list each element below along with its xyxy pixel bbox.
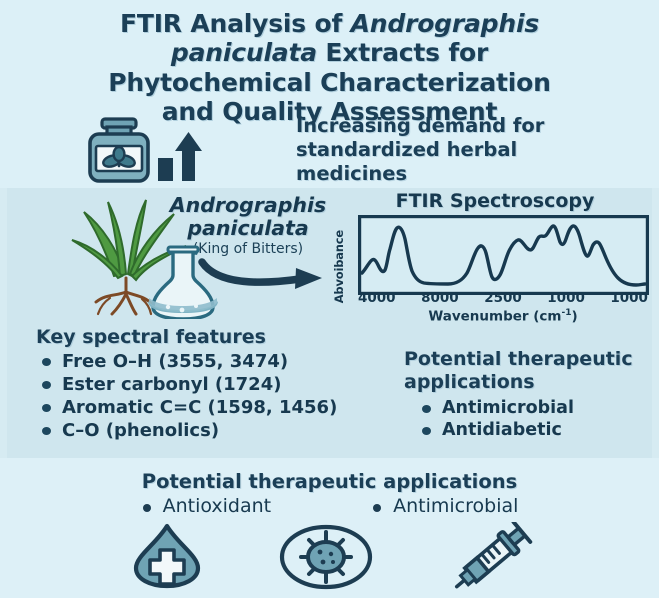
page-title: FTIR Analysis of Andrographis paniculata… xyxy=(28,9,631,126)
intro-text: Increasing demand for standardized herba… xyxy=(296,114,626,186)
title-line-2-plain: Extracts for xyxy=(317,38,488,67)
x-tick-4: 1000 xyxy=(610,290,648,306)
spectrum-title: FTIR Spectroscopy xyxy=(336,190,654,212)
therapeutic-bottom-heading: Potential therapeutic applications xyxy=(0,470,659,493)
x-tick-1: 8000 xyxy=(421,290,459,306)
x-axis-label-close: ) xyxy=(572,309,578,325)
key-features-heading: Key spectral features xyxy=(36,326,396,348)
list-item: Antioxidant xyxy=(141,495,272,517)
list-item: Free O–H (3555, 3474) xyxy=(36,350,396,373)
infographic-page: FTIR Analysis of Andrographis paniculata… xyxy=(0,0,659,598)
list-item: Antimicrobial xyxy=(371,495,518,517)
list-item: C–O (phenolics) xyxy=(36,419,396,442)
list-item: Aromatic C=C (1598, 1456) xyxy=(36,396,396,419)
spectrum-plot xyxy=(358,215,649,299)
list-item: Antimicrobial xyxy=(404,397,654,420)
spectrum-y-axis-label: Abvoibance xyxy=(332,230,346,303)
title-line-1-plain: FTIR Analysis of xyxy=(120,9,351,38)
x-axis-label-superscript: -1 xyxy=(562,308,572,318)
title-line-2-italic: paniculata xyxy=(171,38,317,67)
x-tick-0: 4000 xyxy=(358,290,396,306)
therapeutic-right-heading: Potential therapeutic applications xyxy=(404,348,654,394)
intro-row: Increasing demand for standardized herba… xyxy=(0,112,659,188)
title-line-1-italic: Andrographis xyxy=(351,9,539,38)
list-item: Antidiabetic xyxy=(404,419,654,442)
band-edge-left xyxy=(0,188,7,458)
process-arrow-icon xyxy=(196,252,326,296)
virus-microbe-icon xyxy=(278,524,374,594)
spectrum-x-tick-labels: 4000 8000 2500 1000 1000 xyxy=(358,290,648,306)
therapeutic-applications-right: Potential therapeutic applications Antim… xyxy=(404,348,654,442)
therapeutic-right-list: Antimicrobial Antidiabetic xyxy=(404,397,654,443)
therapeutic-bottom-list: Antioxidant Antimicrobial xyxy=(0,495,659,517)
x-tick-2: 2500 xyxy=(484,290,522,306)
species-scientific-name: Andrographis paniculata xyxy=(163,194,333,239)
spectrum-x-axis-label: Wavenumber (cm-1) xyxy=(358,308,648,325)
syringe-icon xyxy=(442,522,542,596)
medicine-bottle-icon xyxy=(78,116,208,190)
therapeutic-icons-row xyxy=(0,522,659,592)
key-features-list: Free O–H (3555, 3474) Ester carbonyl (17… xyxy=(36,350,396,442)
x-tick-3: 1000 xyxy=(547,290,585,306)
key-spectral-features: Key spectral features Free O–H (3555, 34… xyxy=(36,326,396,442)
list-item: Ester carbonyl (1724) xyxy=(36,373,396,396)
ftir-spectrum-panel: FTIR Spectroscopy Abvoibance 4000 8000 2… xyxy=(336,190,654,335)
blood-drop-plus-icon xyxy=(128,522,206,594)
title-line-3: Phytochemical Characterization xyxy=(108,68,550,97)
x-axis-label-main: Wavenumber (cm xyxy=(428,309,561,325)
